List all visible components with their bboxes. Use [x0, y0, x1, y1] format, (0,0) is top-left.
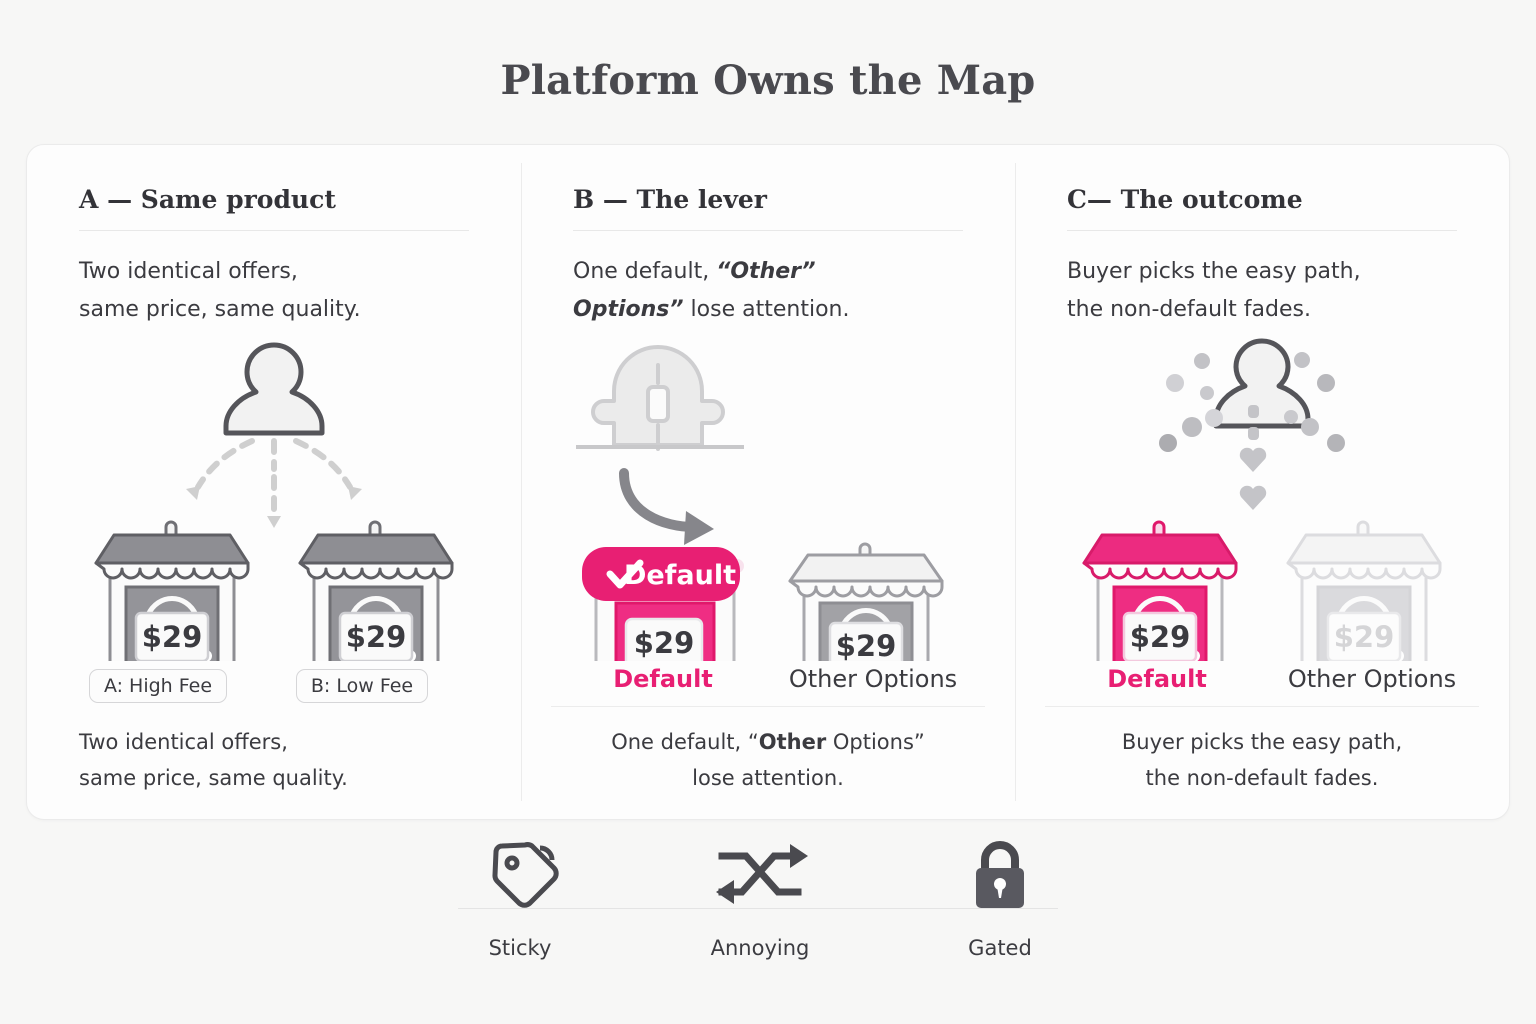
- panel-b-illustration: Default $29: [521, 331, 1015, 661]
- panel-a-illustration: $29 $29: [27, 331, 521, 661]
- store-a-left: $29: [80, 522, 264, 661]
- panel-b-subtitle-line1-a: One default,: [573, 259, 716, 284]
- panel-b-caption-line1-c: Options”: [826, 730, 925, 754]
- store-a-left-label: A: High Fee: [89, 669, 227, 703]
- lever-ghost-icon: [576, 347, 744, 449]
- store-b-right-label: Other Options: [773, 665, 973, 693]
- panel-b-caption-other: Other: [759, 730, 826, 754]
- store-c-default: $29: [1068, 522, 1252, 661]
- store-a-right-label: B: Low Fee: [296, 669, 428, 703]
- store-c-right-label: Other Options: [1267, 665, 1477, 693]
- panel-b-subtitle: One default, “Other” Options” lose atten…: [573, 253, 963, 329]
- panel-c-subtitle: Buyer picks the easy path, the non-defau…: [1067, 253, 1457, 329]
- attention-arrows: [198, 441, 350, 511]
- panel-a-store-labels: A: High Fee B: Low Fee: [79, 669, 469, 707]
- panel-a-subtitle-line2: same price, same quality.: [79, 297, 361, 322]
- panel-b-subtitle-line2-b: lose attention.: [684, 297, 850, 322]
- footer-label-annoying: Annoying: [660, 936, 860, 960]
- panel-a-heading: A — Same product: [79, 185, 469, 214]
- panel-b-caption-line2: lose attention.: [692, 766, 844, 790]
- panel-a-caption-line2: same price, same quality.: [79, 766, 348, 790]
- footer-item-gated[interactable]: Gated: [900, 838, 1100, 960]
- panel-b-foot-rule: [551, 706, 985, 707]
- curved-arrow-icon: [624, 473, 714, 545]
- panel-b-store-labels: Default Other Options: [573, 665, 963, 705]
- panel-a-rule: [79, 230, 469, 231]
- store-b-left-price: $29: [634, 626, 695, 660]
- panel-c-illustration: $29 $29: [1015, 331, 1509, 661]
- footer-label-gated: Gated: [900, 936, 1100, 960]
- panel-c-rule: [1067, 230, 1457, 231]
- store-c-right-price: $29: [1334, 620, 1395, 654]
- panel-a-subtitle-line1: Two identical offers,: [79, 259, 298, 284]
- panel-c-caption-line2: the non-default fades.: [1146, 766, 1379, 790]
- footer-item-annoying[interactable]: Annoying: [660, 838, 860, 960]
- panel-b-subtitle-other: “Other”: [716, 259, 815, 284]
- panel-c-store-labels: Default Other Options: [1067, 665, 1457, 705]
- store-a-left-price: $29: [142, 620, 203, 654]
- footer-badges: Sticky Ann: [0, 838, 1536, 988]
- default-badge-label: Default: [624, 560, 736, 591]
- store-b-right-price: $29: [836, 629, 897, 661]
- panel-a-caption: Two identical offers, same price, same q…: [57, 724, 491, 797]
- panel-a: A — Same product Two identical offers, s…: [27, 145, 521, 819]
- panels-card: A — Same product Two identical offers, s…: [26, 144, 1510, 820]
- store-a-right-price: $29: [346, 620, 407, 654]
- padlock-icon: [900, 838, 1100, 910]
- footer-item-sticky[interactable]: Sticky: [420, 838, 620, 960]
- panel-c-caption: Buyer picks the easy path, the non-defau…: [1045, 724, 1479, 797]
- store-c-left-price: $29: [1130, 620, 1191, 654]
- store-b-default: Default $29: [572, 547, 754, 661]
- panel-b-caption: One default, “Other Options” lose attent…: [551, 724, 985, 797]
- store-b-left-label: Default: [583, 665, 743, 693]
- default-badge[interactable]: Default: [582, 547, 740, 601]
- panel-a-caption-line1: Two identical offers,: [79, 730, 288, 754]
- panel-c-caption-line1: Buyer picks the easy path,: [1122, 730, 1402, 754]
- page-title: Platform Owns the Map: [0, 57, 1536, 104]
- panel-b-heading: B — The lever: [573, 185, 963, 214]
- panel-c: C— The outcome Buyer picks the easy path…: [1015, 145, 1509, 819]
- panel-b-rule: [573, 230, 963, 231]
- buyer-person-icon: [226, 345, 322, 433]
- panel-b-caption-line1-a: One default, “: [611, 730, 759, 754]
- footer-label-sticky: Sticky: [420, 936, 620, 960]
- store-c-other: $29: [1272, 522, 1456, 661]
- store-a-right: $29: [284, 522, 468, 661]
- panel-c-subtitle-line1: Buyer picks the easy path,: [1067, 259, 1361, 284]
- panel-b-subtitle-options: Options”: [573, 297, 684, 322]
- panel-a-subtitle: Two identical offers, same price, same q…: [79, 253, 469, 329]
- shuffle-arrows-icon: [660, 838, 860, 910]
- panel-b: B — The lever One default, “Other” Optio…: [521, 145, 1015, 819]
- store-b-other: $29: [778, 544, 964, 661]
- store-c-left-label: Default: [1077, 665, 1237, 693]
- price-tag-icon: [420, 838, 620, 910]
- panel-c-heading: C— The outcome: [1067, 185, 1457, 214]
- infographic-page: Platform Owns the Map A — Same product T…: [0, 0, 1536, 1024]
- panel-c-foot-rule: [1045, 706, 1479, 707]
- panel-c-subtitle-line2: the non-default fades.: [1067, 297, 1311, 322]
